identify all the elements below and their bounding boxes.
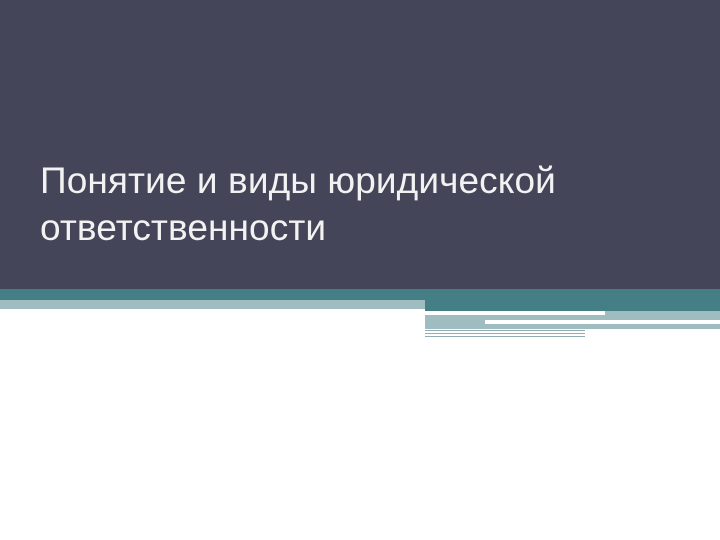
band-gap-lower bbox=[485, 320, 720, 324]
slide-title: Понятие и виды юридической ответственнос… bbox=[40, 157, 640, 252]
band-teal-top bbox=[0, 289, 720, 300]
band-rule-2 bbox=[425, 333, 585, 334]
decorative-band-group bbox=[0, 289, 720, 339]
band-rule-3 bbox=[425, 336, 585, 337]
slide: Понятие и виды юридической ответственнос… bbox=[0, 0, 720, 540]
band-light-left bbox=[0, 300, 425, 309]
band-rule-1 bbox=[425, 330, 585, 331]
band-teal-right bbox=[425, 300, 720, 311]
band-gap-upper bbox=[425, 311, 605, 315]
